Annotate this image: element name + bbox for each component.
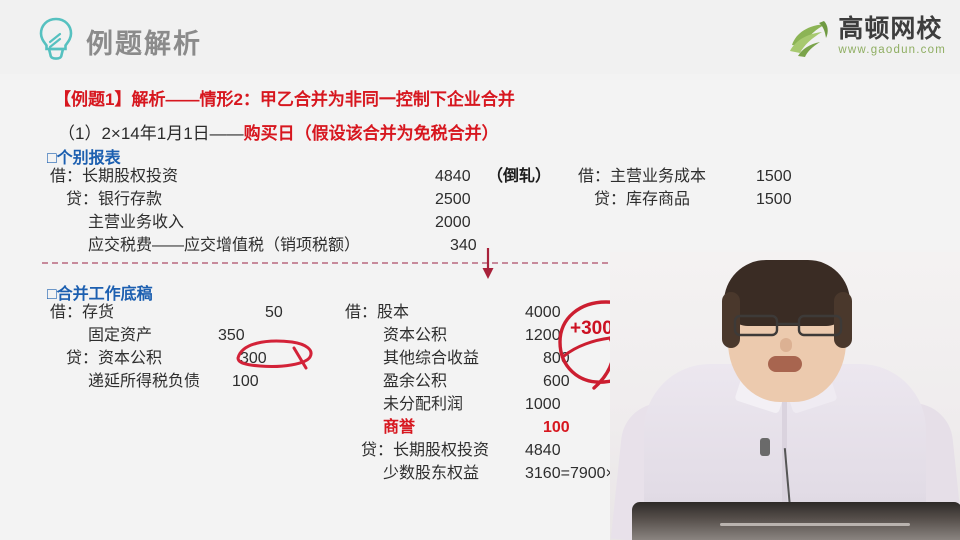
page-title: 例题解析: [86, 22, 202, 61]
journal-amount: 350: [218, 324, 245, 347]
journal-label: 贷：长期股权投资: [361, 442, 489, 459]
journal-amount: 1500: [756, 188, 792, 211]
journal-row: 借：主营业务成本 1500: [578, 165, 706, 188]
journal-amount: 1500: [756, 165, 792, 188]
journal-amount: 2000: [435, 211, 471, 234]
date-line-emphasis: 购买日（假设该合并为免税合并）: [244, 124, 499, 143]
journal-label: 借：主营业务成本: [578, 168, 706, 185]
journal-label: 少数股东权益: [383, 465, 479, 482]
presenter-mouth: [768, 356, 802, 372]
journal-label: 未分配利润: [383, 396, 463, 413]
journal-block-worksheet-right: 借：股本 4000 资本公积 1200 其他综合收益 800 盈余公积 600 …: [345, 301, 489, 485]
journal-amount: 340: [450, 234, 477, 257]
journal-row: 资本公积 1200: [345, 324, 489, 347]
journal-row: 贷：银行存款 2500: [50, 188, 360, 211]
podium-edge-highlight: [720, 523, 910, 526]
logo-url: www.gaodun.com: [838, 44, 946, 58]
journal-row: 借：存货 50: [50, 301, 200, 324]
journal-label-goodwill: 商誉: [383, 419, 415, 436]
journal-label: 借：存货: [50, 304, 114, 321]
journal-label: 资本公积: [383, 327, 447, 344]
date-line: （1）2×14年1月1日——购买日（假设该合并为免税合并）: [58, 119, 499, 144]
annotation-plus-300: +300: [570, 318, 613, 340]
journal-amount: 4840: [525, 439, 561, 462]
journal-label: 贷：资本公积: [66, 350, 162, 367]
journal-row: 商誉 100: [345, 416, 489, 439]
example-title-line: 【例题1】解析——情形2：甲乙合并为非同一控制下企业合并: [54, 85, 515, 110]
journal-label: 其他综合收益: [383, 350, 479, 367]
presenter-glasses: [730, 312, 846, 338]
journal-row: 主营业务收入 2000: [50, 211, 360, 234]
journal-label: 贷：库存商品: [594, 191, 690, 208]
slide-stage: 例题解析 高顿网校 www.gaodun.com 【例题1】解析——情形2：甲乙…: [0, 0, 960, 540]
podium-laptop: [632, 502, 960, 540]
journal-amount: 1000: [525, 393, 561, 416]
journal-block-individual-right: 借：主营业务成本 1500 贷：库存商品 1500: [578, 165, 706, 211]
journal-row: 少数股东权益 3160=7900×: [345, 462, 489, 485]
presenter-video: [610, 252, 960, 540]
journal-row: 递延所得税负债 100: [50, 370, 200, 393]
journal-amount: 4000: [525, 301, 561, 324]
slide-header: 例题解析 高顿网校 www.gaodun.com: [0, 0, 960, 74]
logo-name: 高顿网校: [838, 16, 946, 42]
journal-amount: 3160=7900×: [525, 462, 615, 485]
journal-label: 贷：银行存款: [66, 191, 162, 208]
journal-amount: 800: [543, 347, 570, 370]
journal-amount-circled: 300: [240, 347, 267, 370]
lightbulb-icon: [36, 16, 76, 60]
journal-row: 固定资产 350: [50, 324, 200, 347]
journal-label: 盈余公积: [383, 373, 447, 390]
journal-amount: 2500: [435, 188, 471, 211]
journal-label: 借：股本: [345, 304, 409, 321]
journal-row: 借：长期股权投资 4840 （倒轧）: [50, 165, 360, 188]
journal-note: （倒轧）: [487, 165, 551, 188]
gaodun-leaf-icon: [786, 15, 834, 59]
journal-row: 其他综合收益 800: [345, 347, 489, 370]
journal-row: 贷：库存商品 1500: [578, 188, 706, 211]
journal-label: 借：长期股权投资: [50, 168, 178, 185]
journal-amount: 4840: [435, 165, 471, 188]
journal-label: 主营业务收入: [88, 214, 184, 231]
journal-row: 未分配利润 1000: [345, 393, 489, 416]
journal-block-worksheet-left: 借：存货 50 固定资产 350 贷：资本公积 300 递延所得税负债 100: [50, 301, 200, 393]
journal-amount-goodwill: 100: [543, 416, 570, 439]
journal-row: 应交税费——应交增值税（销项税额） 340: [50, 234, 360, 257]
journal-row: 借：股本 4000: [345, 301, 489, 324]
journal-amount: 100: [232, 370, 259, 393]
journal-label: 固定资产: [88, 327, 152, 344]
journal-label: 应交税费——应交增值税（销项税额）: [88, 237, 360, 254]
journal-row: 盈余公积 600: [345, 370, 489, 393]
down-arrow-icon: [479, 248, 497, 280]
presenter-nose: [780, 338, 792, 352]
date-line-prefix: （1）2×14年1月1日——: [58, 124, 244, 143]
journal-label: 递延所得税负债: [88, 373, 200, 390]
presenter-lapel-mic: [760, 438, 770, 456]
journal-row: 贷：资本公积 300: [50, 347, 200, 370]
journal-amount: 50: [265, 301, 283, 324]
journal-row: 贷：长期股权投资 4840: [345, 439, 489, 462]
journal-amount: 1200: [525, 324, 561, 347]
brand-logo: 高顿网校 www.gaodun.com: [786, 10, 946, 64]
journal-block-individual-left: 借：长期股权投资 4840 （倒轧） 贷：银行存款 2500 主营业务收入 20…: [50, 165, 360, 257]
journal-amount: 600: [543, 370, 570, 393]
